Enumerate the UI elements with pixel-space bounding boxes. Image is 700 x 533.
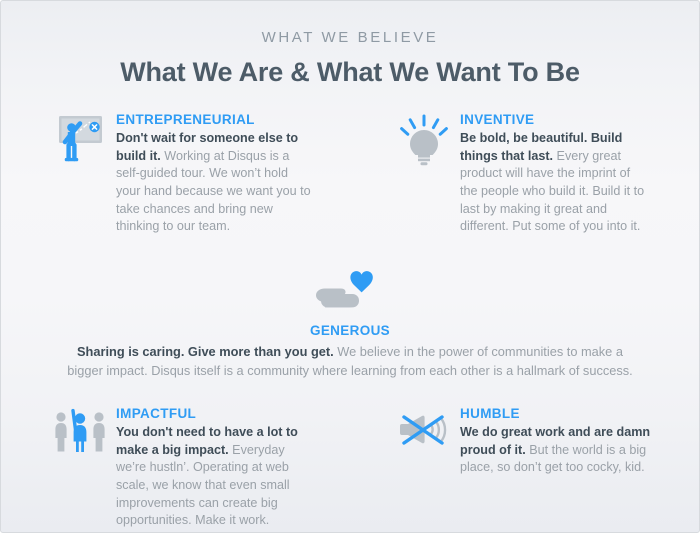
- page-header: WHAT WE BELIEVE What We Are & What We Wa…: [1, 1, 699, 88]
- whiteboard-presenter-icon: [49, 112, 111, 170]
- value-card-generous: GENEROUS Sharing is caring. Give more th…: [1, 268, 699, 380]
- value-title-humble: HUMBLE: [460, 406, 651, 422]
- value-card-inventive: INVENTIVE Be bold, be beautiful. Build t…: [350, 112, 651, 236]
- three-people-icon: [49, 406, 111, 464]
- page-eyebrow: WHAT WE BELIEVE: [1, 30, 699, 45]
- value-title-inventive: INVENTIVE: [460, 112, 651, 128]
- value-body-generous: Sharing is caring. Give more than you ge…: [61, 342, 639, 380]
- value-body-inventive: Be bold, be beautiful. Build things that…: [460, 130, 651, 236]
- value-card-impactful: IMPACTFUL You don't need to have a lot t…: [49, 406, 350, 530]
- values-row-1: ENTREPRENEURIAL Don't wait for someone e…: [1, 112, 699, 236]
- values-panel: WHAT WE BELIEVE What We Are & What We Wa…: [0, 0, 700, 533]
- value-body-humble: We do great work and are damn proud of i…: [460, 424, 651, 477]
- value-copy-impactful: IMPACTFUL You don't need to have a lot t…: [111, 406, 350, 530]
- hand-heart-icon: [61, 268, 639, 316]
- row-spacer: [1, 380, 699, 406]
- value-copy-entrepreneurial: ENTREPRENEURIAL Don't wait for someone e…: [111, 112, 350, 236]
- lightbulb-icon: [393, 112, 455, 170]
- row-spacer: [1, 236, 699, 258]
- value-copy-inventive: INVENTIVE Be bold, be beautiful. Build t…: [455, 112, 651, 236]
- value-card-humble: HUMBLE We do great work and are damn pro…: [350, 406, 651, 530]
- values-list: ENTREPRENEURIAL Don't wait for someone e…: [1, 112, 699, 530]
- muted-megaphone-icon: [393, 406, 455, 464]
- page-title: What We Are & What We Want To Be: [1, 57, 699, 88]
- value-body-entrepreneurial: Don't wait for someone else to build it.…: [116, 130, 312, 236]
- value-title-impactful: IMPACTFUL: [116, 406, 350, 422]
- value-body-impactful: You don't need to have a lot to make a b…: [116, 424, 312, 530]
- value-title-generous: GENEROUS: [61, 323, 639, 339]
- value-card-entrepreneurial: ENTREPRENEURIAL Don't wait for someone e…: [49, 112, 350, 236]
- value-copy-humble: HUMBLE We do great work and are damn pro…: [455, 406, 651, 477]
- value-lead-generous: Sharing is caring. Give more than you ge…: [77, 344, 334, 359]
- value-title-entrepreneurial: ENTREPRENEURIAL: [116, 112, 350, 128]
- values-row-3: IMPACTFUL You don't need to have a lot t…: [1, 406, 699, 530]
